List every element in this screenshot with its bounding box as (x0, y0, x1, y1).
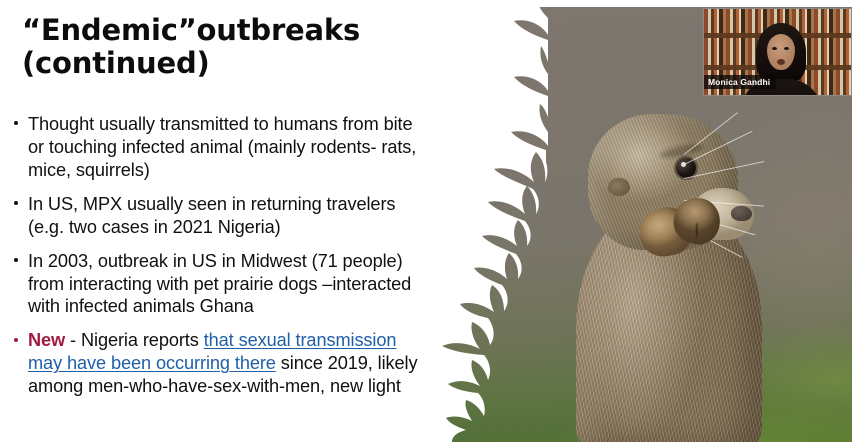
bullet-text: In US, MPX usually seen in returning tra… (28, 194, 395, 237)
prairie-dog-ear (608, 178, 630, 196)
bullet-text: Thought usually transmitted to humans fr… (28, 114, 416, 180)
prairie-dog-eye (676, 158, 696, 178)
new-bullet-prefix: - Nigeria reports (65, 330, 204, 350)
participant-mouth (777, 59, 785, 65)
participant-eye-right (784, 47, 789, 50)
bullet-dot-icon (14, 201, 18, 205)
list-item: In 2003, outbreak in US in Midwest (71 p… (6, 250, 432, 319)
title-line-2: (continued) (22, 47, 422, 80)
participant-face (767, 34, 795, 70)
photo-top-strip (420, 0, 852, 7)
list-item-new: New - Nigeria reports that sexual transm… (6, 329, 432, 398)
bullet-text: In 2003, outbreak in US in Midwest (71 p… (28, 251, 411, 317)
bullet-dot-icon (14, 121, 18, 125)
title-line-1: “Endemic”outbreaks (22, 14, 422, 47)
presentation-slide: “Endemic”outbreaks (continued) Thought u… (0, 0, 852, 442)
bullet-dot-icon (14, 338, 18, 342)
participant-name-label: Monica Gandhi (704, 75, 776, 89)
list-item: In US, MPX usually seen in returning tra… (6, 193, 432, 239)
webcam-video-panel[interactable]: Monica Gandhi (703, 8, 852, 96)
bullet-list: Thought usually transmitted to humans fr… (6, 113, 432, 409)
prairie-dog-claws (696, 218, 726, 244)
list-item: Thought usually transmitted to humans fr… (6, 113, 432, 182)
prairie-dog-paws (640, 198, 736, 284)
prairie-dog-illustration (540, 78, 840, 442)
page-title: “Endemic”outbreaks (continued) (22, 14, 422, 80)
bullet-dot-icon (14, 258, 18, 262)
new-keyword: New (28, 330, 65, 350)
participant-eye-left (772, 47, 777, 50)
